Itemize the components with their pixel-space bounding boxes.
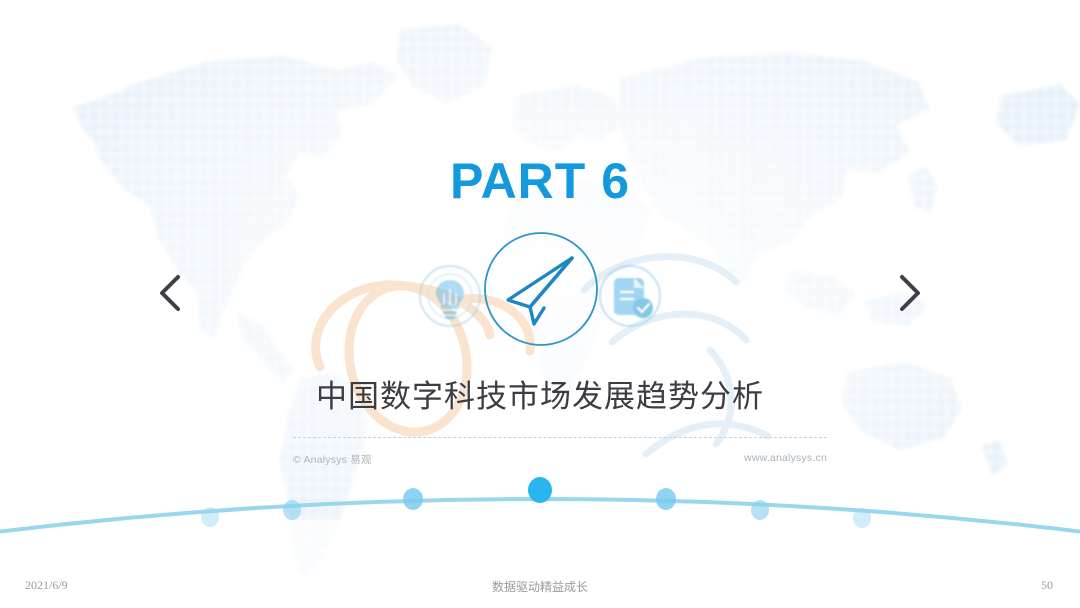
progress-dot[interactable]	[853, 508, 871, 528]
progress-dot-active[interactable]	[528, 477, 552, 503]
progress-arc	[0, 460, 1080, 550]
chevron-left-icon[interactable]	[148, 272, 192, 318]
slide-title: 中国数字科技市场发展趋势分析	[0, 371, 1080, 416]
progress-dot[interactable]	[403, 488, 423, 510]
chevron-left-glyph	[157, 272, 183, 314]
part-label: PART 6	[0, 152, 1080, 210]
chevron-right-icon[interactable]	[888, 272, 932, 318]
source-divider	[293, 437, 827, 438]
progress-dots	[201, 477, 871, 528]
icon-cluster	[410, 232, 670, 360]
paper-plane-icon[interactable]	[480, 228, 602, 350]
progress-arc-line	[0, 499, 1080, 534]
document-check-icon[interactable]	[588, 254, 672, 338]
slide-canvas: PART 6	[0, 0, 1080, 608]
progress-dot[interactable]	[751, 500, 769, 520]
footer-tagline: 数据驱动精益成长	[0, 578, 1080, 595]
progress-dot[interactable]	[656, 488, 676, 510]
progress-dot[interactable]	[283, 500, 301, 520]
footer-page-number: 50	[1041, 578, 1053, 593]
website-text: www.analysys.cn	[744, 452, 827, 464]
progress-dot[interactable]	[201, 507, 219, 527]
copyright-text: © Analysys 易观	[293, 452, 372, 467]
source-row: © Analysys 易观 www.analysys.cn	[293, 452, 827, 470]
chevron-right-glyph	[897, 272, 923, 314]
